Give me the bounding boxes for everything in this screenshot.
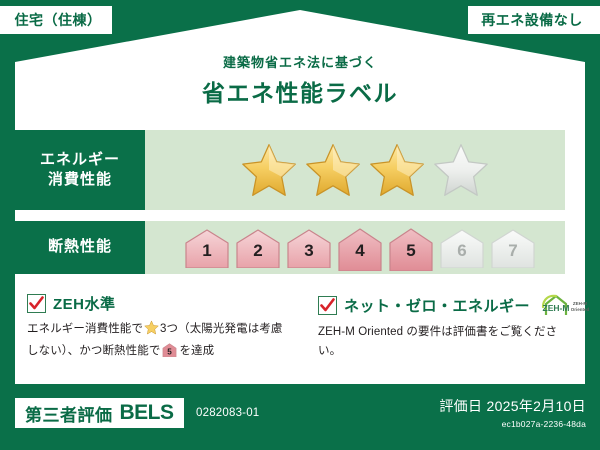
grade-badge-label-4: 4: [355, 241, 364, 268]
evaluation-date-label: 評価日: [439, 398, 482, 414]
grade-badge-label-3: 3: [304, 241, 313, 268]
net-zero-energy-title: ネット・ゼロ・エネルギー: [344, 295, 530, 316]
zeh-standard-description: エネルギー消費性能で3つ（太陽光発電は考慮しない）、かつ断熱性能で5を達成: [27, 320, 294, 364]
check-icon: [29, 296, 44, 311]
zeh-standard-title: ZEH水準: [53, 293, 116, 314]
grade-badge-6: 6: [438, 227, 486, 268]
zeh-standard-checkbox[interactable]: [27, 294, 46, 313]
energy-performance-label: 住宅（住棟） 再エネ設備なし 建築物省エネ法に基づく 省エネ性能ラベル エネルギ…: [0, 0, 600, 450]
evaluation-date-value: 2025年2月10日: [486, 398, 586, 414]
energy-label-line2: 消費性能: [48, 170, 112, 190]
star-rating: [240, 142, 490, 198]
insulation-performance-row: 断熱性能 1: [15, 221, 565, 274]
zeh-m-logo-icon: ZEH-M ZEH-M Oriented: [540, 293, 590, 317]
insulation-performance-label-cell: 断熱性能: [15, 221, 145, 274]
star-icon-filled-2: [304, 142, 362, 198]
evaluation-date: 評価日 2025年2月10日: [439, 396, 586, 416]
building-type-tag: 住宅（住棟）: [0, 6, 112, 34]
star-icon-empty-4: [432, 142, 490, 198]
zeh-desc-part3: を達成: [179, 345, 214, 357]
net-zero-energy-checkbox[interactable]: [318, 296, 337, 315]
bels-certificate-number: 0282083-01: [196, 407, 259, 419]
label-body: エネルギー 消費性能: [15, 108, 585, 384]
page-title: 省エネ性能ラベル: [0, 74, 600, 108]
grade-badge-7: 7: [489, 227, 537, 268]
star-icon-filled-3: [368, 142, 426, 198]
bels-badge: 第三者評価 BELS: [15, 398, 184, 428]
zeh-standard-header: ZEH水準: [27, 293, 294, 314]
label-header: 住宅（住棟） 再エネ設備なし 建築物省エネ法に基づく 省エネ性能ラベル: [0, 0, 600, 122]
zeh-desc-part1: エネルギー消費性能で: [27, 323, 143, 335]
insulation-label-line1: 断熱性能: [48, 237, 112, 257]
evaluation-id: ec1b027a-2236-48da: [439, 419, 586, 429]
svg-text:ZEH-M: ZEH-M: [543, 303, 570, 313]
grade-badge-1: 1: [183, 227, 231, 268]
inline-grade-badge: 5: [162, 343, 177, 364]
insulation-grade-scale: 1 2 3: [183, 227, 537, 268]
inline-star-icon: [144, 320, 159, 342]
svg-text:Oriented: Oriented: [571, 307, 590, 312]
grade-badge-2: 2: [234, 227, 282, 268]
zeh-standard-block: ZEH水準 エネルギー消費性能で3つ（太陽光発電は考慮しない）、かつ断熱性能で5…: [15, 293, 300, 381]
title-block: 建築物省エネ法に基づく 省エネ性能ラベル: [0, 52, 600, 108]
net-zero-energy-description: ZEH-M Oriented の要件は評価書をご覧ください。: [318, 323, 579, 361]
energy-performance-value-cell: [145, 130, 565, 210]
grade-badge-label-7: 7: [508, 241, 517, 268]
grade-badge-label-1: 1: [202, 241, 211, 268]
energy-performance-label-cell: エネルギー 消費性能: [15, 130, 145, 210]
renewable-equipment-tag: 再エネ設備なし: [468, 6, 600, 34]
bels-japanese-label: 第三者評価: [25, 401, 113, 426]
grade-badge-4: 4: [336, 227, 384, 268]
svg-text:ZEH-M: ZEH-M: [573, 301, 587, 306]
certification-checks: ZEH水準 エネルギー消費性能で3つ（太陽光発電は考慮しない）、かつ断熱性能で5…: [15, 293, 585, 381]
net-zero-energy-header: ネット・ゼロ・エネルギー ZEH-M ZEH-M Oriented: [318, 293, 579, 317]
evaluation-info: 評価日 2025年2月10日 ec1b027a-2236-48da: [439, 396, 586, 429]
bels-logo-text: BELS: [120, 401, 174, 425]
net-zero-energy-block: ネット・ゼロ・エネルギー ZEH-M ZEH-M Oriented ZEH-M …: [300, 293, 585, 381]
title-subtitle: 建築物省エネ法に基づく: [0, 52, 600, 71]
svg-text:5: 5: [168, 348, 173, 357]
star-icon-filled-1: [240, 142, 298, 198]
insulation-performance-value-cell: 1 2 3: [145, 221, 565, 274]
grade-badge-label-2: 2: [253, 241, 262, 268]
grade-badge-label-6: 6: [457, 241, 466, 268]
grade-badge-label-5: 5: [406, 241, 415, 268]
grade-badge-3: 3: [285, 227, 333, 268]
energy-performance-row: エネルギー 消費性能: [15, 130, 565, 210]
grade-badge-5: 5: [387, 227, 435, 268]
check-icon: [320, 298, 335, 313]
label-footer: 第三者評価 BELS 0282083-01 評価日 2025年2月10日 ec1…: [0, 388, 600, 450]
energy-label-line1: エネルギー: [40, 150, 120, 170]
